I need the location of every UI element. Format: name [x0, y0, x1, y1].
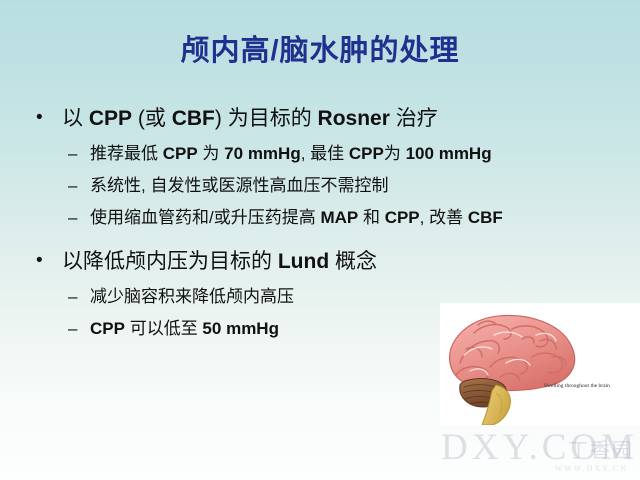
bullet-marker: • — [36, 103, 43, 133]
sub-bullet-item-2-1-label: 减少脑容积来降低颅内高压 — [90, 287, 294, 306]
bullet-item-2-label: 以降低颅内压为目标的 Lund 概念 — [62, 250, 377, 273]
sub-bullet-item-2-2-label: CPP 可以低至 50 mmHg — [90, 319, 279, 338]
slide-title: 颅内高/脑水肿的处理 — [0, 33, 640, 69]
watermark-chinese-text: 丁香园 — [568, 434, 634, 463]
bullet-item-2: • 以降低颅内压为目标的 Lund 概念 — [0, 247, 640, 277]
bullet-item-1: • 以 CPP (或 CBF) 为目标的 Rosner 治疗 — [0, 104, 640, 134]
bullet-item-1-label: 以 CPP (或 CBF) 为目标的 Rosner 治疗 — [62, 107, 438, 130]
watermark-subtext: WWW.DXY.CN — [555, 464, 628, 473]
sub-bullet-marker: – — [68, 205, 77, 230]
sub-bullet-item-1-3-label: 使用缩血管药和/或升压药提高 MAP 和 CPP, 改善 CBF — [90, 208, 503, 227]
presentation-slide: 颅内高/脑水肿的处理 • 以 CPP (或 CBF) 为目标的 Rosner 治… — [0, 0, 640, 480]
sub-bullet-marker: – — [68, 141, 77, 166]
sub-bullet-marker: – — [68, 173, 77, 198]
sub-bullet-item-1-1: – 推荐最低 CPP 为 70 mmHg, 最佳 CPP为 100 mmHg — [0, 141, 640, 166]
watermark: DXY.COM 丁香园 WWW.DXY.CN — [196, 424, 640, 476]
figure-caption: Swelling throughout the brain — [544, 383, 632, 390]
watermark-text: DXY.COM — [441, 426, 638, 469]
brain-illustration-icon — [440, 305, 596, 425]
sub-bullet-item-1-2: – 系统性, 自发性或医源性高血压不需控制 — [0, 173, 640, 198]
bullet-marker: • — [36, 246, 43, 276]
sub-bullet-item-1-1-label: 推荐最低 CPP 为 70 mmHg, 最佳 CPP为 100 mmHg — [90, 144, 492, 163]
sub-bullet-marker: – — [68, 316, 77, 341]
brain-figure: Swelling throughout the brain — [440, 303, 640, 425]
sub-bullet-item-1-2-label: 系统性, 自发性或医源性高血压不需控制 — [90, 176, 388, 195]
sub-bullet-item-1-3: – 使用缩血管药和/或升压药提高 MAP 和 CPP, 改善 CBF — [0, 205, 640, 231]
sub-bullet-marker: – — [68, 284, 77, 309]
